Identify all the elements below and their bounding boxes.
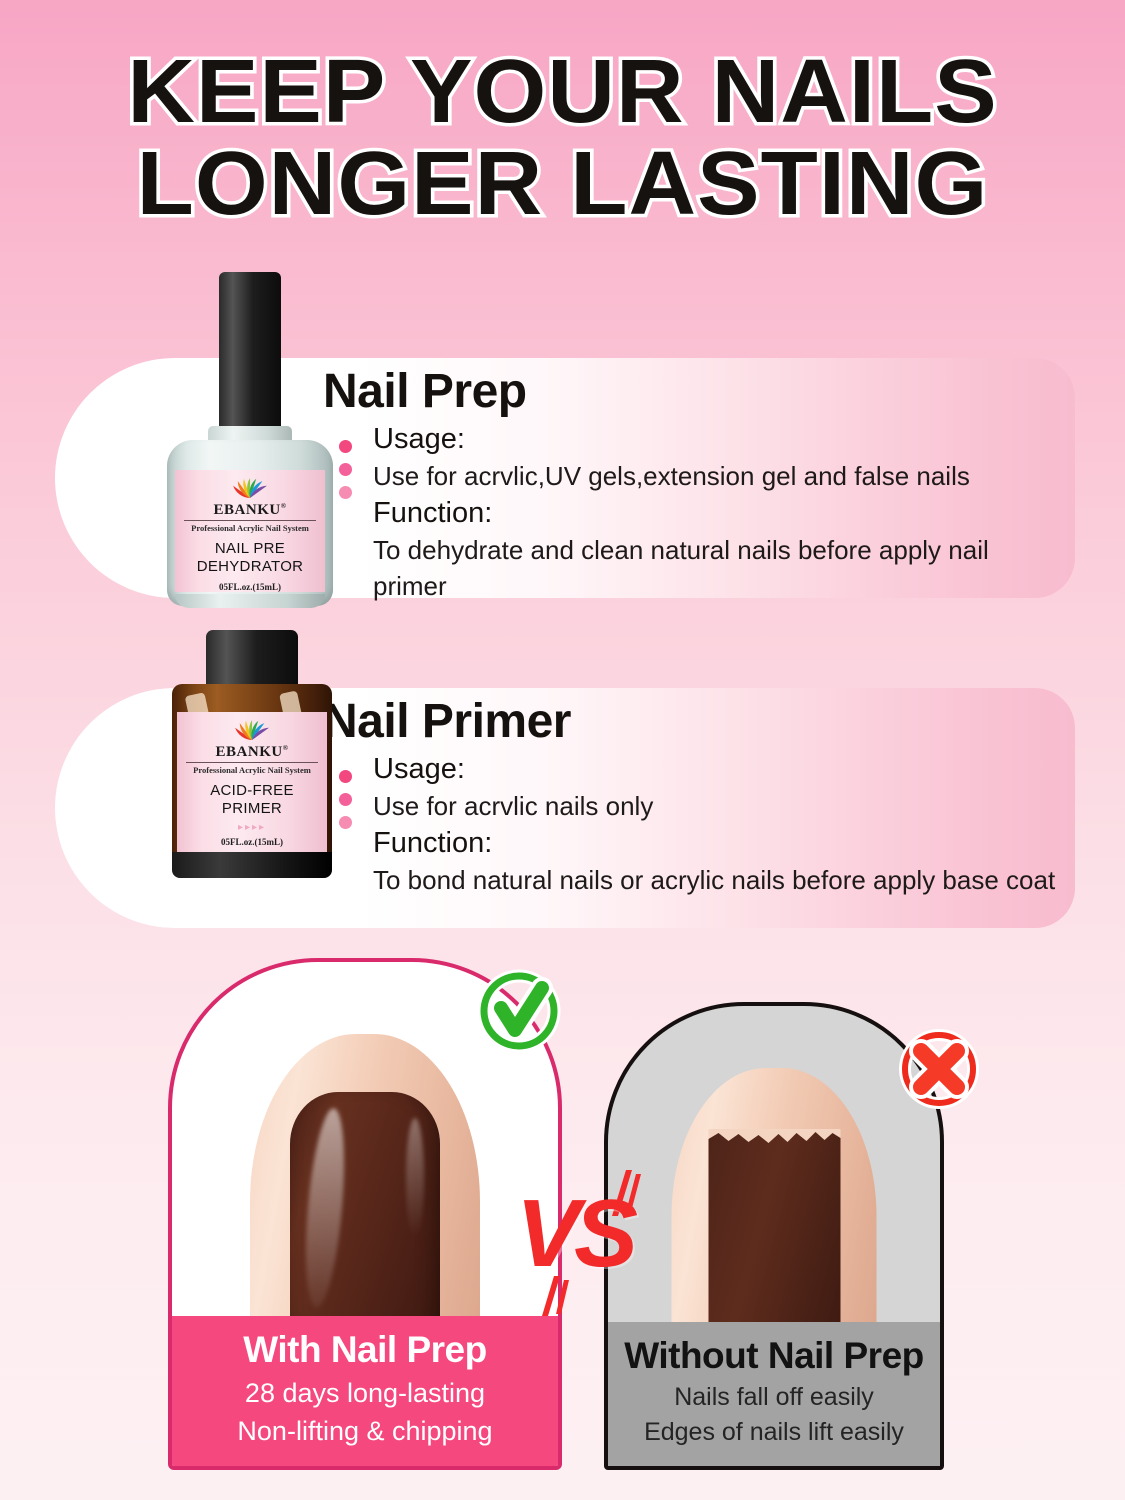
brand-divider: [184, 520, 316, 521]
ebanku-rainbow-fan-icon: [229, 720, 275, 740]
product-title: Nail Prep: [323, 364, 1063, 420]
bottle-acid-free-primer: EBANKU® Professional Acrylic Nail System…: [167, 630, 337, 930]
card-text-block: Nail Primer Usage: Use for acrvlic nails…: [323, 694, 1063, 898]
function-text: To bond natural nails or acrylic nails b…: [373, 862, 1063, 898]
bottle-tagline: Professional Acrylic Nail System: [175, 523, 325, 533]
bottle-volume: 05FL.oz.(15mL): [177, 837, 327, 847]
bullet-dot-icon: [339, 793, 352, 806]
card-text-block: Nail Prep Usage: Use for acrvlic,UV gels…: [323, 364, 1063, 604]
usage-text: Use for acrvlic,UV gels,extension gel an…: [373, 458, 1063, 494]
check-mark-icon: [476, 968, 562, 1054]
vs-label: VS: [516, 1186, 632, 1282]
caption-without: Without Nail Prep Nails fall off easily …: [608, 1322, 940, 1466]
bottle-label: EBANKU® Professional Acrylic Nail System…: [177, 712, 327, 852]
bottle-product-name: ACID-FREE PRIMER: [177, 782, 327, 818]
nail-gloss-highlight: [406, 1118, 424, 1238]
product-card-nail-primer: EBANKU® Professional Acrylic Nail System…: [55, 688, 1075, 928]
usage-label: Usage:: [373, 750, 1063, 788]
usage-text: Use for acrvlic nails only: [373, 788, 1063, 824]
bottle-cap: [206, 630, 298, 692]
caption-line-1: 28 days long-lasting: [178, 1374, 552, 1412]
usage-label: Usage:: [373, 420, 1063, 458]
caption-with: With Nail Prep 28 days long-lasting Non-…: [172, 1316, 558, 1466]
caption-line-2: Non-lifting & chipping: [178, 1412, 552, 1450]
versus-mark: VS: [508, 1168, 688, 1318]
function-label: Function:: [373, 494, 1063, 532]
bottle-product-name: NAIL PRE DEHYDRATOR: [175, 540, 325, 576]
chipped-edge-icon: [708, 1129, 840, 1149]
bottle-nail-pre-dehydrator: EBANKU® Professional Acrylic Nail System…: [155, 272, 345, 602]
bottle-brand: EBANKU®: [175, 498, 325, 518]
title-line-1: KEEP YOUR NAILS: [0, 46, 1125, 138]
bullet-dot-icon: [339, 770, 352, 783]
product-card-nail-prep: EBANKU® Professional Acrylic Nail System…: [55, 358, 1075, 598]
ebanku-rainbow-fan-icon: [227, 478, 273, 498]
bottle-brand: EBANKU®: [177, 740, 327, 760]
caption-line-2: Edges of nails lift easily: [614, 1415, 934, 1450]
bottle-tagline: Professional Acrylic Nail System: [177, 765, 327, 775]
caption-title: With Nail Prep: [178, 1326, 552, 1374]
bullet-dot-icon: [339, 816, 352, 829]
bottle-base: [175, 594, 325, 608]
bottle-label: EBANKU® Professional Acrylic Nail System…: [175, 470, 325, 592]
product-title: Nail Primer: [323, 694, 1063, 750]
bottle-cap: [219, 272, 281, 432]
product-details: Usage: Use for acrvlic,UV gels,extension…: [373, 420, 1063, 604]
caption-line-1: Nails fall off easily: [614, 1380, 934, 1415]
bottle-base: [172, 852, 332, 878]
cross-mark-icon: [896, 1026, 982, 1112]
nail-gloss-highlight: [299, 1107, 350, 1309]
function-text: To dehydrate and clean natural nails bef…: [373, 532, 1063, 604]
caption-title: Without Nail Prep: [614, 1332, 934, 1380]
infographic-page: KEEP YOUR NAILS LONGER LASTING: [0, 0, 1125, 1500]
title-line-2: LONGER LASTING: [0, 138, 1125, 230]
product-details: Usage: Use for acrvlic nails only Functi…: [373, 750, 1063, 898]
function-label: Function:: [373, 824, 1063, 862]
label-decoration: ▸▸▸▸: [177, 823, 327, 833]
page-title: KEEP YOUR NAILS LONGER LASTING: [0, 46, 1125, 230]
bullet-dots: [339, 770, 352, 829]
bottle-volume: 05FL.oz.(15mL): [175, 582, 325, 592]
brand-divider: [186, 762, 318, 763]
